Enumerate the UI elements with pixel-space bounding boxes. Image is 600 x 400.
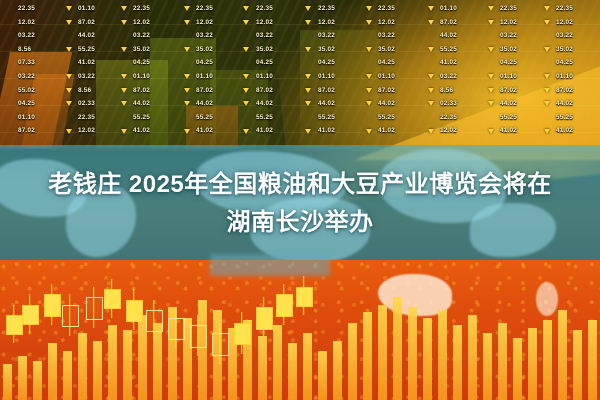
down-arrow-icon <box>243 84 249 98</box>
ticker-value-column: 22.3512.0203.2235.0204.2501.1087.0244.02… <box>318 2 335 138</box>
down-arrow-icon <box>366 43 372 57</box>
candlestick <box>146 260 161 400</box>
ticker-value: 04.25 <box>196 56 213 70</box>
candlestick-layer <box>0 260 600 400</box>
ticker-value: 44.02 <box>556 97 573 111</box>
down-arrow-icon <box>488 84 494 98</box>
down-arrow-icon <box>366 111 372 125</box>
ticker-value: 87.02 <box>440 16 457 30</box>
down-arrow-icon <box>366 2 372 16</box>
down-arrow-icon <box>488 16 494 30</box>
down-arrow-icon <box>184 56 190 70</box>
ticker-arrow-column <box>184 2 190 138</box>
ticker-arrow-column <box>428 2 434 138</box>
headline-line-2: 湖南长沙举办 <box>227 208 374 238</box>
candlestick <box>256 260 271 400</box>
ticker-number-grid: 22.3512.0203.228.5607.3303.2255.0204.250… <box>0 0 600 150</box>
ticker-arrow-column <box>66 2 72 138</box>
down-arrow-icon <box>428 124 434 138</box>
chart-board-bottom <box>0 260 600 400</box>
down-arrow-icon <box>428 2 434 16</box>
candlestick <box>234 260 249 400</box>
down-arrow-icon <box>428 29 434 43</box>
ticker-value: 55.25 <box>500 111 517 125</box>
ticker-value: 12.02 <box>318 16 335 30</box>
ticker-value: 03.22 <box>18 29 35 43</box>
ticker-value: 03.22 <box>78 70 95 84</box>
down-arrow-icon <box>121 56 127 70</box>
ticker-value: 22.35 <box>196 2 213 16</box>
down-arrow-icon <box>544 43 550 57</box>
ticker-value: 55.25 <box>78 43 95 57</box>
down-arrow-icon <box>305 56 311 70</box>
ticker-value: 12.02 <box>133 16 150 30</box>
ticker-value: 35.02 <box>196 43 213 57</box>
down-arrow-icon <box>305 111 311 125</box>
ticker-value-column: 22.3512.0203.2235.0204.2501.1087.0244.02… <box>133 2 150 138</box>
ticker-value-column: 01.1087.0244.0255.2541.0203.228.5602.332… <box>78 2 95 138</box>
down-arrow-icon <box>66 43 72 57</box>
ticker-value: 01.10 <box>440 2 457 16</box>
ticker-value: 87.02 <box>378 84 395 98</box>
ticker-value: 03.22 <box>133 29 150 43</box>
down-arrow-icon <box>488 70 494 84</box>
ticker-value: 12.02 <box>78 124 95 138</box>
ticker-value: 35.02 <box>318 43 335 57</box>
ticker-value: 22.35 <box>78 111 95 125</box>
down-arrow-icon <box>428 84 434 98</box>
down-arrow-icon <box>488 43 494 57</box>
ticker-value: 03.22 <box>318 29 335 43</box>
down-arrow-icon <box>243 16 249 30</box>
ticker-value: 01.10 <box>78 2 95 16</box>
down-arrow-icon <box>366 97 372 111</box>
ticker-value: 41.02 <box>440 56 457 70</box>
down-arrow-icon <box>66 29 72 43</box>
ticker-value: 03.22 <box>556 29 573 43</box>
down-arrow-icon <box>243 111 249 125</box>
down-arrow-icon <box>184 84 190 98</box>
candlestick <box>62 260 77 400</box>
ticker-value: 01.10 <box>256 70 273 84</box>
ticker-arrow-column <box>121 2 127 138</box>
candlestick <box>190 260 205 400</box>
down-arrow-icon <box>184 111 190 125</box>
down-arrow-icon <box>428 56 434 70</box>
down-arrow-icon <box>428 16 434 30</box>
ticker-value: 44.02 <box>133 97 150 111</box>
down-arrow-icon <box>488 2 494 16</box>
ticker-value: 07.33 <box>18 56 35 70</box>
ticker-value: 02.33 <box>78 97 95 111</box>
candlestick <box>104 260 119 400</box>
ticker-value: 44.02 <box>500 97 517 111</box>
ticker-value: 55.25 <box>378 111 395 125</box>
ticker-arrow-column <box>243 2 249 138</box>
down-arrow-icon <box>544 16 550 30</box>
ticker-value: 04.25 <box>500 56 517 70</box>
down-arrow-icon <box>184 29 190 43</box>
ticker-arrow-column <box>366 2 372 138</box>
ticker-board-top: 22.3512.0203.228.5607.3303.2255.0204.250… <box>0 0 600 150</box>
down-arrow-icon <box>366 29 372 43</box>
down-arrow-icon <box>544 97 550 111</box>
down-arrow-icon <box>544 70 550 84</box>
down-arrow-icon <box>243 124 249 138</box>
down-arrow-icon <box>184 16 190 30</box>
ticker-value: 04.25 <box>318 56 335 70</box>
ticker-value: 41.02 <box>500 124 517 138</box>
down-arrow-icon <box>121 29 127 43</box>
ticker-value: 44.02 <box>378 97 395 111</box>
down-arrow-icon <box>544 2 550 16</box>
ticker-value: 87.02 <box>318 84 335 98</box>
down-arrow-icon <box>66 70 72 84</box>
down-arrow-icon <box>366 70 372 84</box>
headline-line-1: 老钱庄 2025年全国粮油和大豆产业博览会将在 <box>48 170 552 200</box>
ticker-value: 22.35 <box>133 2 150 16</box>
down-arrow-icon <box>305 84 311 98</box>
ticker-value: 55.25 <box>256 111 273 125</box>
ticker-value: 03.22 <box>440 70 457 84</box>
down-arrow-icon <box>305 43 311 57</box>
down-arrow-icon <box>488 56 494 70</box>
ticker-value: 44.02 <box>196 97 213 111</box>
down-arrow-icon <box>366 84 372 98</box>
down-arrow-icon <box>428 97 434 111</box>
ticker-value: 04.25 <box>378 56 395 70</box>
down-arrow-icon <box>121 16 127 30</box>
down-arrow-icon <box>121 84 127 98</box>
down-arrow-icon <box>488 97 494 111</box>
ticker-value: 35.02 <box>378 43 395 57</box>
candlestick <box>6 260 21 400</box>
candlestick <box>22 260 37 400</box>
down-arrow-icon <box>121 70 127 84</box>
ticker-value: 02.33 <box>440 97 457 111</box>
down-arrow-icon <box>66 2 72 16</box>
ticker-value-column: 22.3512.0203.2235.0204.2501.1087.0244.02… <box>378 2 395 138</box>
candlestick <box>126 260 141 400</box>
ticker-value: 22.35 <box>18 2 35 16</box>
ticker-value: 03.22 <box>500 29 517 43</box>
down-arrow-icon <box>544 56 550 70</box>
down-arrow-icon <box>366 124 372 138</box>
down-arrow-icon <box>243 29 249 43</box>
ticker-value: 01.10 <box>133 70 150 84</box>
ticker-value: 35.02 <box>556 43 573 57</box>
ticker-value-column: 01.1087.0244.0255.2541.0203.228.5602.332… <box>440 2 457 138</box>
ticker-value: 35.02 <box>500 43 517 57</box>
ticker-value: 87.02 <box>196 84 213 98</box>
ticker-value: 03.22 <box>18 70 35 84</box>
down-arrow-icon <box>366 16 372 30</box>
ticker-value: 55.25 <box>556 111 573 125</box>
ticker-value: 04.25 <box>133 56 150 70</box>
ticker-value: 04.25 <box>556 56 573 70</box>
down-arrow-icon <box>121 2 127 16</box>
down-arrow-icon <box>305 16 311 30</box>
candlestick <box>276 260 291 400</box>
ticker-value: 01.10 <box>318 70 335 84</box>
down-arrow-icon <box>243 2 249 16</box>
ticker-value: 12.02 <box>196 16 213 30</box>
ticker-value: 22.35 <box>500 2 517 16</box>
candlestick <box>86 260 101 400</box>
down-arrow-icon <box>428 111 434 125</box>
ticker-value: 87.02 <box>133 84 150 98</box>
ticker-value: 44.02 <box>318 97 335 111</box>
down-arrow-icon <box>121 124 127 138</box>
ticker-value: 41.02 <box>556 124 573 138</box>
ticker-value: 87.02 <box>556 84 573 98</box>
down-arrow-icon <box>66 111 72 125</box>
down-arrow-icon <box>488 29 494 43</box>
ticker-value-column: 22.3512.0203.2235.0204.2501.1087.0244.02… <box>196 2 213 138</box>
ticker-value: 55.25 <box>133 111 150 125</box>
ticker-value: 01.10 <box>196 70 213 84</box>
down-arrow-icon <box>488 111 494 125</box>
ticker-value: 44.02 <box>78 29 95 43</box>
candlestick <box>44 260 59 400</box>
down-arrow-icon <box>488 124 494 138</box>
ticker-value: 22.35 <box>440 111 457 125</box>
ticker-value: 22.35 <box>378 2 395 16</box>
down-arrow-icon <box>305 70 311 84</box>
down-arrow-icon <box>121 111 127 125</box>
ticker-value: 04.25 <box>18 97 35 111</box>
ticker-value: 22.35 <box>256 2 273 16</box>
ticker-value: 04.25 <box>256 56 273 70</box>
ticker-arrow-column <box>488 2 494 138</box>
ticker-value: 01.10 <box>556 70 573 84</box>
down-arrow-icon <box>66 16 72 30</box>
ticker-value: 8.56 <box>78 84 95 98</box>
ticker-value: 12.02 <box>556 16 573 30</box>
ticker-value: 41.02 <box>133 124 150 138</box>
ticker-arrow-column <box>305 2 311 138</box>
down-arrow-icon <box>66 56 72 70</box>
down-arrow-icon <box>428 70 434 84</box>
down-arrow-icon <box>428 43 434 57</box>
ticker-value: 41.02 <box>378 124 395 138</box>
ticker-value: 03.22 <box>378 29 395 43</box>
down-arrow-icon <box>243 43 249 57</box>
ticker-value: 8.56 <box>18 43 35 57</box>
down-arrow-icon <box>544 111 550 125</box>
down-arrow-icon <box>305 124 311 138</box>
ticker-value: 87.02 <box>78 16 95 30</box>
down-arrow-icon <box>184 2 190 16</box>
ticker-value-column: 22.3512.0203.2235.0204.2501.1087.0244.02… <box>256 2 273 138</box>
ticker-value: 55.02 <box>18 84 35 98</box>
down-arrow-icon <box>243 56 249 70</box>
ticker-value: 55.25 <box>196 111 213 125</box>
ticker-value: 41.02 <box>318 124 335 138</box>
down-arrow-icon <box>121 43 127 57</box>
ticker-value: 87.02 <box>256 84 273 98</box>
down-arrow-icon <box>544 84 550 98</box>
ticker-value: 8.56 <box>440 84 457 98</box>
ticker-value: 01.10 <box>18 111 35 125</box>
ticker-value: 01.10 <box>500 70 517 84</box>
ticker-value: 12.02 <box>18 16 35 30</box>
news-banner-image: 22.3512.0203.228.5607.3303.2255.0204.250… <box>0 0 600 400</box>
ticker-value-column: 22.3512.0203.228.5607.3303.2255.0204.250… <box>18 2 35 138</box>
ticker-value-column: 22.3512.0203.2235.0204.2501.1087.0244.02… <box>556 2 573 138</box>
ticker-arrow-column <box>544 2 550 138</box>
ticker-value: 35.02 <box>256 43 273 57</box>
down-arrow-icon <box>366 56 372 70</box>
down-arrow-icon <box>305 97 311 111</box>
down-arrow-icon <box>184 70 190 84</box>
ticker-value: 22.35 <box>318 2 335 16</box>
down-arrow-icon <box>305 29 311 43</box>
down-arrow-icon <box>305 2 311 16</box>
down-arrow-icon <box>184 97 190 111</box>
candlestick <box>212 260 227 400</box>
down-arrow-icon <box>544 124 550 138</box>
ticker-value: 41.02 <box>78 56 95 70</box>
down-arrow-icon <box>184 43 190 57</box>
ticker-value: 55.25 <box>440 43 457 57</box>
ticker-value: 12.02 <box>500 16 517 30</box>
ticker-value: 03.22 <box>196 29 213 43</box>
down-arrow-icon <box>121 97 127 111</box>
ticker-value-column: 22.3512.0203.2235.0204.2501.1087.0244.02… <box>500 2 517 138</box>
ticker-value: 44.02 <box>440 29 457 43</box>
ticker-value: 22.35 <box>556 2 573 16</box>
down-arrow-icon <box>243 70 249 84</box>
ticker-value: 12.02 <box>440 124 457 138</box>
down-arrow-icon <box>66 124 72 138</box>
ticker-value: 35.02 <box>133 43 150 57</box>
ticker-value: 87.02 <box>18 124 35 138</box>
ticker-value: 87.02 <box>500 84 517 98</box>
ticker-value: 41.02 <box>196 124 213 138</box>
down-arrow-icon <box>66 97 72 111</box>
ticker-value: 41.02 <box>256 124 273 138</box>
ticker-value: 01.10 <box>378 70 395 84</box>
headline-text-block: 老钱庄 2025年全国粮油和大豆产业博览会将在 湖南长沙举办 <box>0 145 600 263</box>
down-arrow-icon <box>184 124 190 138</box>
candlestick <box>168 260 183 400</box>
down-arrow-icon <box>544 29 550 43</box>
ticker-value: 44.02 <box>256 97 273 111</box>
candlestick <box>296 260 311 400</box>
ticker-value: 03.22 <box>256 29 273 43</box>
ticker-value: 55.25 <box>318 111 335 125</box>
ticker-value: 12.02 <box>256 16 273 30</box>
down-arrow-icon <box>243 97 249 111</box>
down-arrow-icon <box>66 84 72 98</box>
ticker-value: 12.02 <box>378 16 395 30</box>
